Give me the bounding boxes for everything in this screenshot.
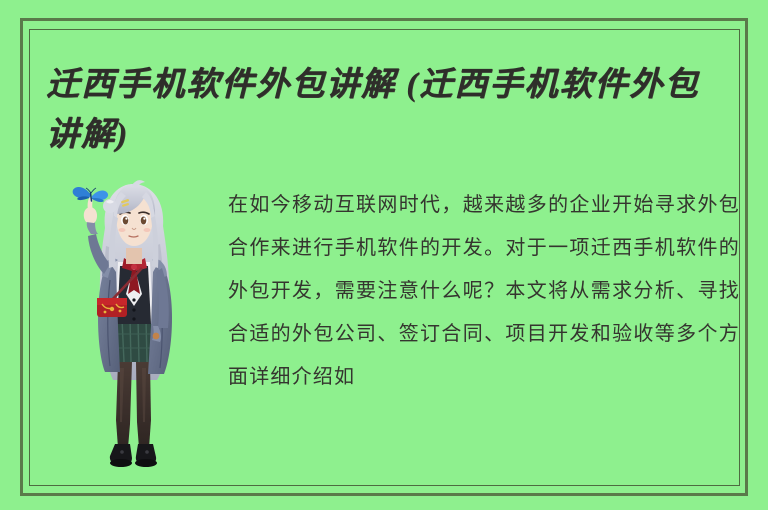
article-title: 迁西手机软件外包讲解 (迁西手机软件外包讲解) — [46, 60, 726, 160]
shoes-icon — [110, 444, 157, 467]
hand-icon — [84, 197, 97, 223]
article-card: 迁西手机软件外包讲解 (迁西手机软件外包讲解) 在如今移动互联网时代，越来越多的… — [0, 0, 768, 510]
anime-girl-illustration — [58, 176, 208, 470]
article-body: 在如今移动互联网时代，越来越多的企业开始寻求外包合作来进行手机软件的开发。对于一… — [228, 184, 740, 399]
